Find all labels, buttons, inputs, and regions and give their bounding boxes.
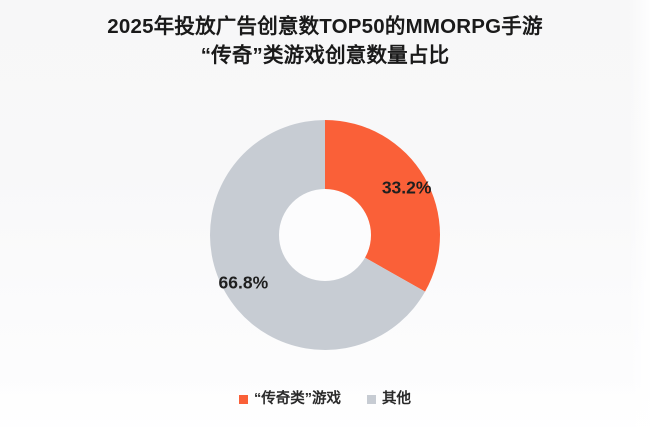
- legend-item-primary[interactable]: “传奇类”游戏: [239, 392, 341, 407]
- chart-title: 2025年投放广告创意数TOP50的MMORPG手游 “传奇”类游戏创意数量占比: [0, 12, 650, 70]
- donut-slice-label: 66.8%: [219, 273, 269, 293]
- chart-legend: “传奇类”游戏 其他: [0, 392, 650, 407]
- square-swatch-icon: [367, 395, 376, 404]
- legend-item-secondary[interactable]: 其他: [367, 392, 411, 407]
- donut-chart-svg: 33.2%66.8%: [210, 120, 440, 350]
- legend-item-label: “传奇类”游戏: [254, 392, 341, 407]
- donut-center-hole: [279, 189, 371, 281]
- square-swatch-icon: [239, 395, 248, 404]
- legend-item-label: 其他: [382, 392, 411, 407]
- donut-chart: 33.2%66.8%: [210, 120, 440, 350]
- chart-title-line-2: “传奇”类游戏创意数量占比: [0, 41, 650, 70]
- chart-figure: 2025年投放广告创意数TOP50的MMORPG手游 “传奇”类游戏创意数量占比…: [0, 0, 650, 427]
- donut-slice-label: 33.2%: [382, 177, 432, 197]
- chart-title-line-1: 2025年投放广告创意数TOP50的MMORPG手游: [0, 12, 650, 41]
